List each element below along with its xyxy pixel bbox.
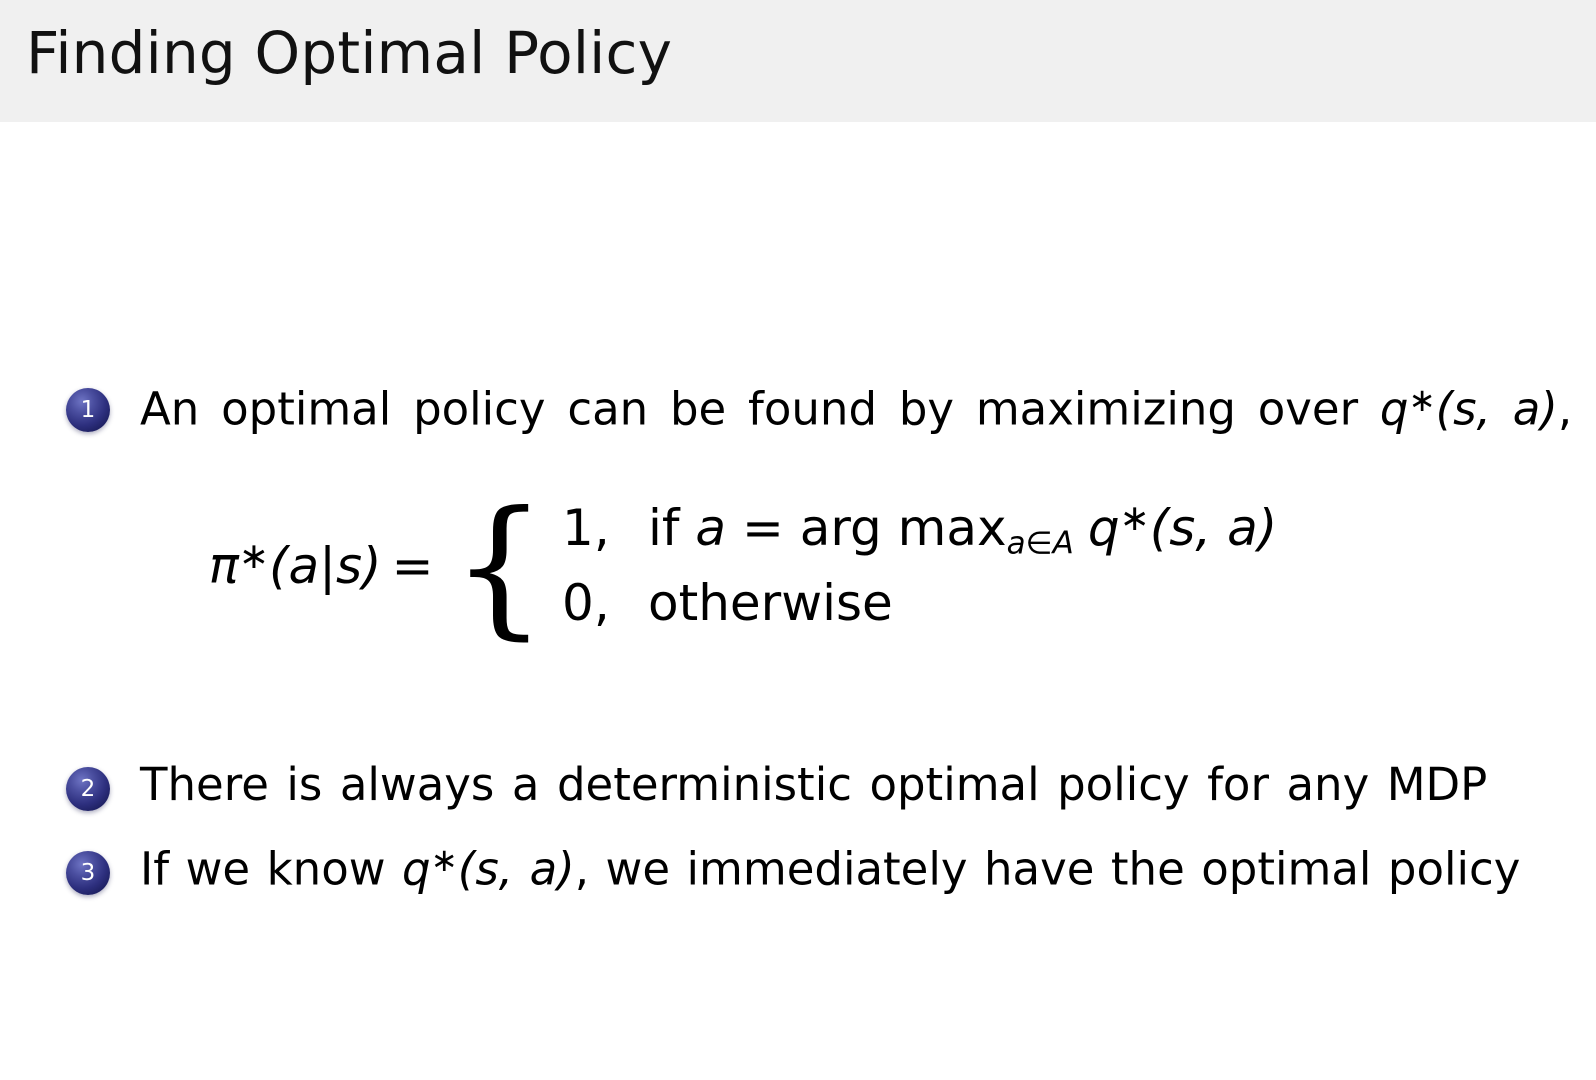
equation-pi-args: (a|s) [269,537,382,595]
item3-math-args: (s, a) [458,843,575,896]
item3-lead-text: If we know [140,843,402,896]
equation-pi: π [209,537,239,595]
item1-lead-text: An optimal policy can be found by maximi… [140,383,1380,436]
slide-header-bar: Finding Optimal Policy [0,0,1596,122]
enumerate-marker-2: 2 [66,767,110,811]
item3-math-q: q [402,843,431,896]
enumerate-marker-1: 1 [66,388,110,432]
enumerate-marker-3-label: 3 [81,860,96,886]
item1-math-star: ∗ [1408,381,1435,419]
equation-lhs: π∗(a|s)= [209,536,452,595]
case1-value: 1, [562,492,648,565]
case2-condition: otherwise [648,574,893,632]
case1-argmax-subscript: a∈A [1007,526,1074,562]
case1-if-keyword: if [648,499,695,557]
case1-var: a [695,499,726,557]
cases-brace-icon: { [451,509,546,626]
enumerate-marker-1-label: 1 [81,397,96,423]
slide-body: 1 An optimal policy can be found by maxi… [0,122,1596,1080]
case1-math-q: q [1088,499,1120,557]
display-equation: π∗(a|s)={ 1,if a = arg maxa∈Aq∗(s, a) 0,… [0,492,1596,639]
case2-value: 0, [562,567,648,640]
equation-case-row-2: 0,otherwise [562,567,1277,640]
item1-math-args: (s, a) [1436,383,1558,436]
enumerate-marker-3: 3 [66,851,110,895]
equation-equals: = [382,537,444,595]
page-title: Finding Optimal Policy [26,24,672,82]
case1-math-star: ∗ [1120,498,1150,539]
list-item-1-text: An optimal policy can be found by maximi… [140,384,1572,432]
item3-trailing-text: , we immediately have the optimal policy [575,843,1521,896]
item1-math-q: q [1380,383,1409,436]
case1-equals: = [726,499,800,557]
equation-cases: 1,if a = arg maxa∈Aq∗(s, a) 0,otherwise [552,492,1277,639]
equation-case-row-1: 1,if a = arg maxa∈Aq∗(s, a) [562,492,1277,567]
item1-trailing-punct: , [1558,383,1572,436]
case1-math-args: (s, a) [1150,499,1278,557]
item3-math-star: ∗ [431,841,458,879]
enumerate-marker-2-label: 2 [81,776,96,802]
equation-pi-star: ∗ [239,536,269,577]
list-item-3-text: If we know q∗(s, a), we immediately have… [140,844,1520,892]
list-item-2-text: There is always a deterministic optimal … [140,762,1487,808]
case1-argmax-operator: arg max [800,499,1007,557]
